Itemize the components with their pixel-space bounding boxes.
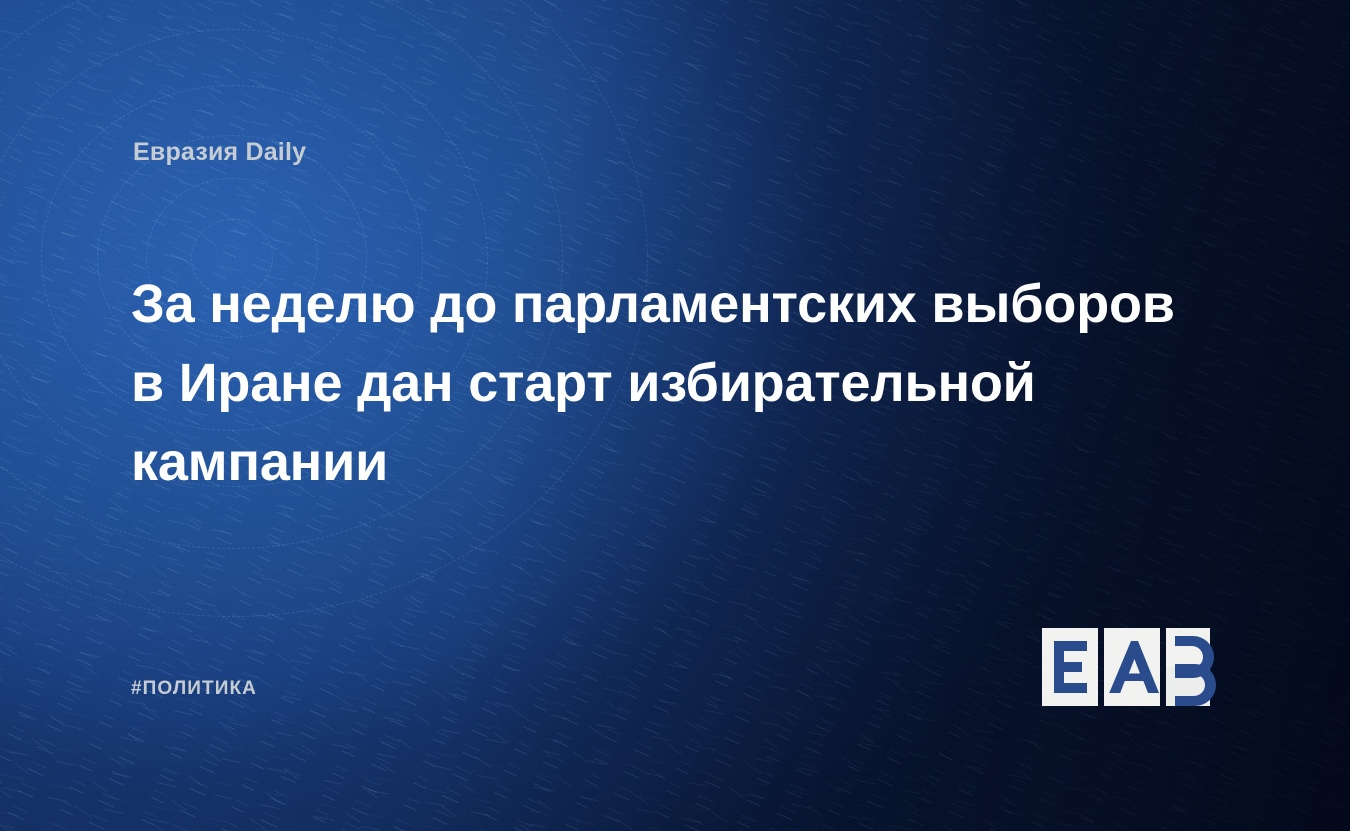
page-title: За неделю до парламентских выборов в Ира… [131, 265, 1201, 502]
category-tag[interactable]: #ПОЛИТИКА [131, 678, 257, 700]
eadaily-logo[interactable] [1042, 628, 1224, 706]
news-card: Евразия Daily За неделю до парламентских… [0, 0, 1350, 831]
card-content: Евразия Daily За неделю до парламентских… [0, 0, 1350, 831]
eadaily-logo-mark [1042, 628, 1224, 706]
brand-name: Евразия Daily [133, 138, 306, 167]
